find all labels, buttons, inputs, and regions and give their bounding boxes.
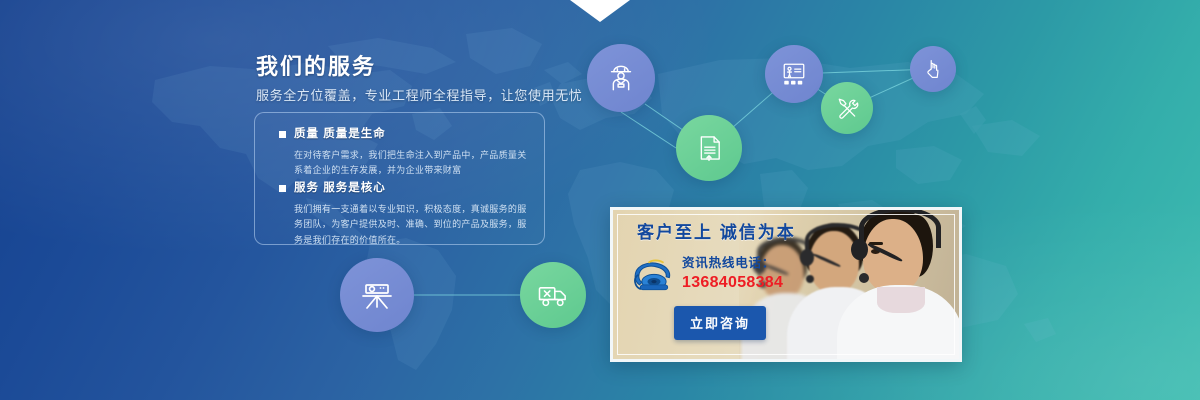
hammer-wrench-icon [833,94,861,122]
square-bullet-icon [279,131,286,138]
survey-tripod-icon [357,275,397,315]
agent-front [843,210,955,359]
node-delivery-truck[interactable] [520,262,586,328]
promo-slogan: 客户至上 诚信为本 [637,224,841,241]
node-survey-tripod[interactable] [340,258,414,332]
top-chevron-notch [0,0,1200,22]
promo-text-block: 客户至上 诚信为本 资讯热线电话： 13684058384 [631,224,841,295]
feature-item-service: 服务 服务是核心 我们拥有一支通着以专业知识，积极态度，真诚服务的服务团队，为客… [279,183,529,249]
page-subtitle: 服务全方位覆盖，专业工程师全程指导，让您使用无忧 [256,89,554,102]
page-title: 我们的服务 [256,56,554,78]
node-document[interactable] [676,115,742,181]
service-icon-network [0,0,1200,400]
hotline-row: 资讯热线电话： 13684058384 [633,255,841,295]
feature-title-row: 服务 服务是核心 [279,183,529,195]
feature-title: 质量 质量是生命 [294,129,386,141]
document-upload-icon [692,131,726,165]
engineer-worker-icon [603,60,639,96]
telephone-icon [633,257,675,295]
service-banner: 我们的服务 服务全方位覆盖，专业工程师全程指导，让您使用无忧 质量 质量是生命 … [0,0,1200,400]
training-whiteboard-icon [779,59,809,89]
node-training[interactable] [765,45,823,103]
consultation-promo-card[interactable]: 客户至上 诚信为本 资讯热线电话： 13684058384 [610,207,962,362]
feature-list-box: 质量 质量是生命 在对待客户需求，我们把生命注入到产品中，产品质量关系着企业的生… [254,112,545,245]
headset-earcup-icon [851,239,868,260]
node-engineer-worker[interactable] [587,44,655,112]
consult-now-button[interactable]: 立即咨询 [674,306,766,340]
delivery-truck-icon [535,277,571,313]
hotline-texts: 资讯热线电话： 13684058384 [682,255,783,291]
hotline-label: 资讯热线电话： [682,257,783,271]
headset-mic-tip [859,273,869,283]
feature-item-quality: 质量 质量是生命 在对待客户需求，我们把生命注入到产品中，产品质量关系着企业的生… [279,129,529,179]
pointing-hand-icon [921,57,945,81]
square-bullet-icon [279,185,286,192]
headset-band-icon [859,210,941,248]
feature-title: 服务 服务是核心 [294,183,386,195]
feature-body: 我们拥有一支通着以专业知识，积极态度，真诚服务的服务团队，为客户提供及时、准确、… [279,202,529,249]
node-hand[interactable] [910,46,956,92]
service-text-column: 我们的服务 服务全方位覆盖，专业工程师全程指导，让您使用无忧 [254,56,554,116]
hotline-number[interactable]: 13684058384 [682,274,783,292]
agent-collar [877,287,925,313]
node-tools[interactable] [821,82,873,134]
feature-title-row: 质量 质量是生命 [279,129,529,141]
feature-body: 在对待客户需求，我们把生命注入到产品中，产品质量关系着企业的生存发展，并为企业带… [279,148,529,180]
